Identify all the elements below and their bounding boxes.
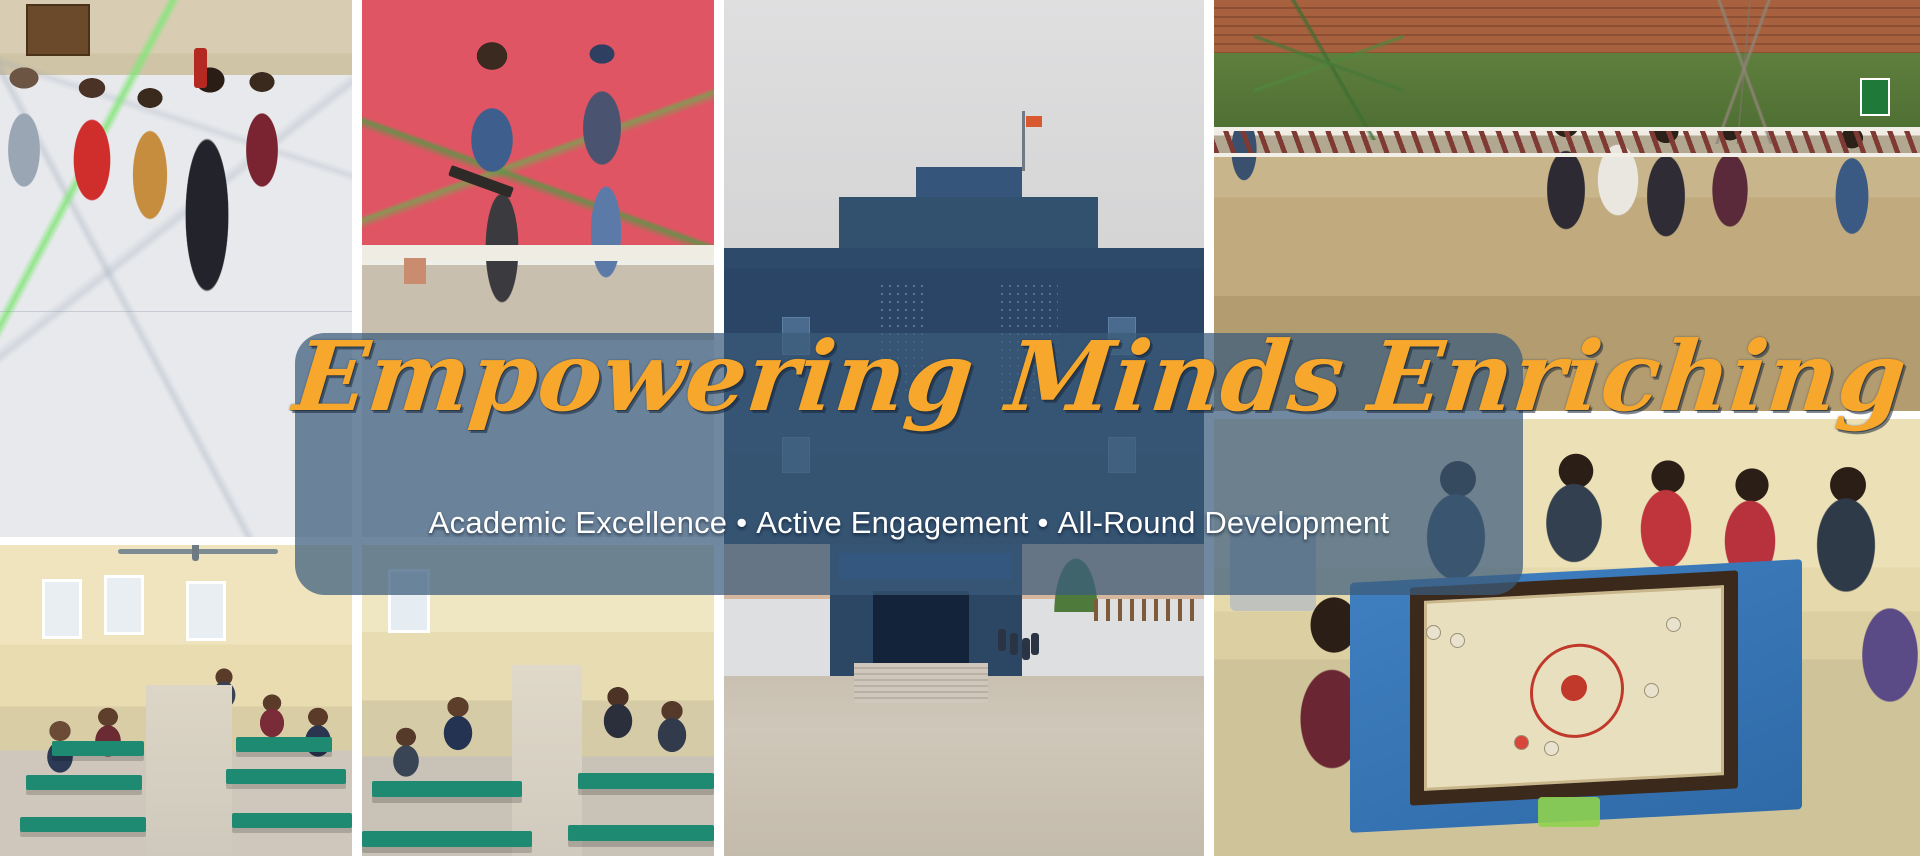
- person-decor: [1010, 633, 1018, 655]
- carrom-board-decor: [1410, 570, 1738, 805]
- fire-extinguisher-decor: [194, 48, 207, 88]
- brick-decor: [404, 258, 426, 284]
- floor-line-decor: [0, 311, 352, 312]
- window-decor: [104, 575, 144, 635]
- carrom-coin-decor: [1644, 683, 1659, 698]
- wood-panel-decor: [26, 4, 90, 56]
- desk-decor: [578, 773, 714, 789]
- hero-headline: Empowering MindsEnriching Futures: [290, 327, 1529, 428]
- flag-mast-decor: [1022, 111, 1025, 171]
- carrom-coin-decor: [1450, 633, 1465, 648]
- carrom-coin-decor: [1544, 741, 1559, 756]
- entrance-steps-decor: [854, 663, 988, 702]
- desk-decor: [568, 825, 714, 841]
- desk-decor: [20, 817, 146, 832]
- carrom-queen-decor: [1514, 735, 1529, 750]
- bullet-separator-icon: •: [1029, 505, 1058, 541]
- railing-decor: [1214, 127, 1920, 157]
- aisle-decor: [146, 685, 232, 856]
- photo-classroom-left: [0, 545, 352, 856]
- hero-headline-part-1: Empowering Minds: [289, 320, 1350, 433]
- carrom-coin-decor: [1666, 617, 1681, 632]
- window-decor: [42, 579, 82, 639]
- ceiling-fan-decor: [118, 549, 278, 554]
- bullet-separator-icon: •: [727, 505, 756, 541]
- window-decor: [186, 581, 226, 641]
- bare-tree-decor: [1634, 0, 1854, 144]
- desk-decor: [236, 737, 332, 752]
- desk-decor: [232, 813, 352, 828]
- hero-subtitle: Academic Excellence•Active Engagement•Al…: [295, 505, 1523, 541]
- hero-banner: Empowering MindsEnriching Futures Academ…: [0, 0, 1920, 856]
- desk-decor: [52, 741, 144, 756]
- palm-tree-decor: [1254, 0, 1404, 140]
- flag-decor: [1026, 116, 1042, 127]
- entrance-door-decor: [873, 591, 969, 668]
- person-decor: [1031, 633, 1039, 655]
- ground-decor: [724, 676, 1204, 856]
- person-decor: [1022, 638, 1030, 660]
- person-decor: [998, 629, 1006, 651]
- desk-decor: [372, 781, 522, 797]
- hero-headline-part-2: Enriching Futures: [1364, 320, 1920, 433]
- photo-cricket-image: [362, 0, 714, 340]
- hero-subtitle-item-1: Academic Excellence: [429, 505, 727, 540]
- hero-overlay-panel: Empowering MindsEnriching Futures Academ…: [295, 333, 1523, 595]
- desk-decor: [226, 769, 346, 784]
- fence-decor: [1094, 599, 1194, 621]
- desk-decor: [26, 775, 142, 790]
- desk-decor: [362, 831, 532, 847]
- green-bag-decor: [1538, 797, 1600, 827]
- exit-sign-decor: [1860, 78, 1890, 116]
- hero-subtitle-item-2: Active Engagement: [756, 505, 1028, 540]
- hero-subtitle-item-3: All-Round Development: [1058, 505, 1390, 540]
- photo-cricket: [362, 0, 714, 340]
- carrom-coin-decor: [1426, 625, 1441, 640]
